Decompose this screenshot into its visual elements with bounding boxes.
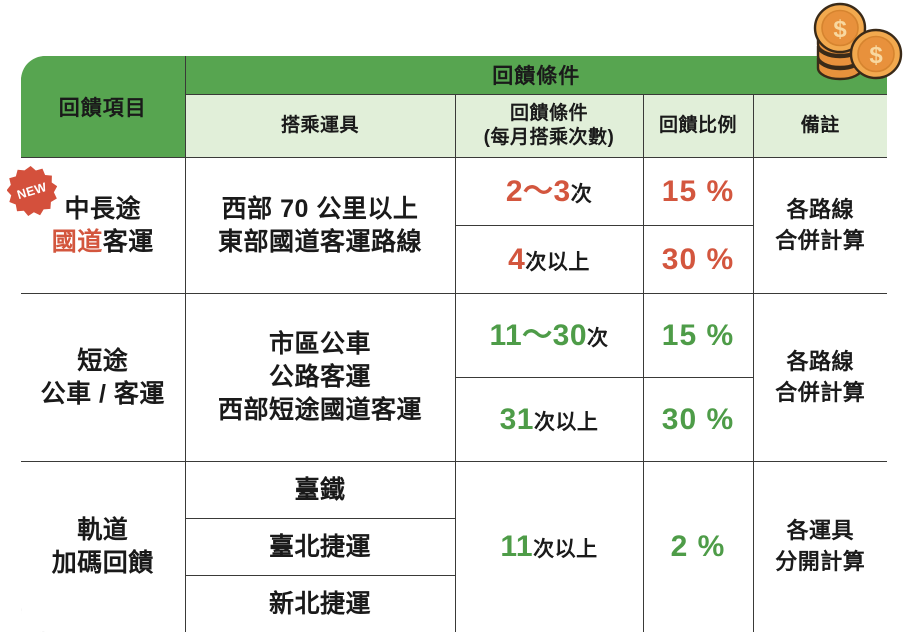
rate-value: 15 % — [662, 175, 734, 208]
condition-count: 11 — [500, 530, 533, 563]
table-row: 短途 公車 / 客運 市區公車 公路客運 西部短途國道客運 11～30次 15 … — [21, 294, 887, 378]
transport-cell-rail-1: 臺鐵 — [185, 462, 455, 519]
header-condition-line2: (每月搭乘次數) — [456, 126, 643, 150]
transport-cell-longdistance: 西部 70 公里以上 東部國道客運路線 — [185, 158, 455, 294]
condition-unit: 次 — [571, 183, 593, 206]
note-line: 各路線 — [754, 347, 888, 378]
transport-cell-rail-3: 新北捷運 — [185, 576, 455, 632]
condition-count: 2～3 — [506, 175, 571, 208]
category-cell-shortdistance: 短途 公車 / 客運 — [21, 294, 185, 462]
rate-cell: 2 % — [643, 462, 753, 632]
header-rate: 回饋比例 — [643, 95, 753, 158]
header-condition: 回饋條件 (每月搭乘次數) — [455, 95, 643, 158]
rate-value: 30 % — [662, 403, 734, 436]
condition-unit: 次 — [587, 327, 609, 350]
category-line2: 國道客運 — [21, 226, 185, 259]
note-cell-longdistance: 各路線 合併計算 — [753, 158, 887, 294]
note-line: 分開計算 — [754, 547, 888, 578]
condition-unit: 次以上 — [533, 538, 598, 561]
table-header-row-top: 回饋項目 回饋條件 — [21, 56, 887, 95]
transport-cell-rail-2: 臺北捷運 — [185, 519, 455, 576]
rate-value: 2 % — [671, 530, 726, 563]
condition-unit: 次以上 — [525, 251, 590, 274]
condition-cell: 11次以上 — [455, 462, 643, 632]
rate-cell: 15 % — [643, 294, 753, 378]
transport-line: 西部短途國道客運 — [186, 394, 455, 427]
header-condition-group: 回饋條件 — [185, 56, 887, 95]
condition-cell: 2～3次 — [455, 158, 643, 226]
condition-count: 4 — [508, 243, 525, 276]
category-line2: 加碼回饋 — [21, 547, 185, 580]
rate-value: 15 % — [662, 319, 734, 352]
note-line: 各運具 — [754, 516, 888, 547]
category-line2-rest: 客運 — [103, 228, 154, 256]
note-cell-rail: 各運具 分開計算 — [753, 462, 887, 632]
condition-cell: 11～30次 — [455, 294, 643, 378]
condition-cell: 31次以上 — [455, 378, 643, 462]
category-line2: 公車 / 客運 — [21, 378, 185, 411]
rate-cell: 15 % — [643, 158, 753, 226]
transport-line: 市區公車 — [186, 328, 455, 361]
infographic-table-page: 回饋項目 回饋條件 搭乘運具 回饋條件 (每月搭乘次數) 回饋比例 備註 — [0, 0, 908, 644]
table-body-panel: 回饋項目 回饋條件 搭乘運具 回饋條件 (每月搭乘次數) 回饋比例 備註 — [21, 56, 887, 632]
note-line: 合併計算 — [754, 378, 888, 409]
new-starburst-badge-icon: NEW — [7, 166, 57, 216]
category-cell-longdistance: NEW 中長途 國道客運 — [21, 158, 185, 294]
benefits-table: 回饋項目 回饋條件 搭乘運具 回饋條件 (每月搭乘次數) 回饋比例 備註 — [21, 56, 887, 632]
note-line: 各路線 — [754, 195, 888, 226]
category-line1: 短途 — [21, 345, 185, 378]
transport-line: 東部國道客運路線 — [186, 226, 455, 259]
transport-line: 西部 70 公里以上 — [186, 193, 455, 226]
header-note: 備註 — [753, 95, 887, 158]
svg-text:$: $ — [833, 16, 847, 43]
condition-count: 31 — [500, 403, 534, 436]
category-line2-highlight: 國道 — [52, 228, 103, 256]
condition-unit: 次以上 — [534, 411, 599, 434]
note-line: 合併計算 — [754, 226, 888, 257]
table-row: NEW 中長途 國道客運 西部 70 公里以上 東部國道客運路線 2～3次 15… — [21, 158, 887, 226]
note-cell-shortdistance: 各路線 合併計算 — [753, 294, 887, 462]
table-row: 軌道 加碼回饋 臺鐵 11次以上 2 % 各運具 分開計算 — [21, 462, 887, 519]
transport-line: 公路客運 — [186, 361, 455, 394]
header-condition-line1: 回饋條件 — [456, 102, 643, 126]
header-transport: 搭乘運具 — [185, 95, 455, 158]
header-item-column: 回饋項目 — [21, 56, 185, 158]
rate-cell: 30 % — [643, 378, 753, 462]
condition-cell: 4次以上 — [455, 226, 643, 294]
transport-cell-shortdistance: 市區公車 公路客運 西部短途國道客運 — [185, 294, 455, 462]
rate-value: 30 % — [662, 243, 734, 276]
category-line1: 軌道 — [21, 514, 185, 547]
rate-cell: 30 % — [643, 226, 753, 294]
category-cell-rail: 軌道 加碼回饋 — [21, 462, 185, 632]
condition-count: 11～30 — [489, 319, 587, 352]
